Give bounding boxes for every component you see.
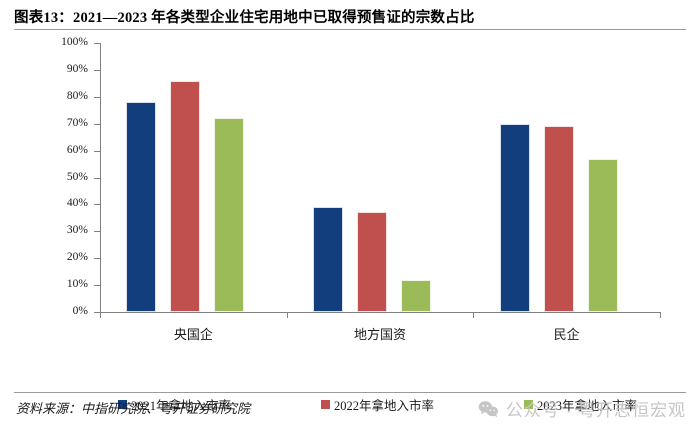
bar-民企-2022年拿地入市率[interactable] — [544, 126, 574, 312]
bar-地方国资-2022年拿地入市率[interactable] — [357, 212, 387, 312]
bar-央国企-2021年拿地入市率[interactable] — [126, 102, 156, 312]
x-axis-category-label: 央国企 — [100, 324, 287, 343]
y-axis-label: 0% — [42, 306, 88, 317]
bar-地方国资-2021年拿地入市率[interactable] — [313, 207, 343, 312]
legend-label: 2022年拿地入市率 — [334, 395, 434, 414]
x-axis-category-label: 民企 — [473, 324, 660, 343]
y-axis-label: 80% — [42, 91, 88, 102]
bar-地方国资-2023年拿地入市率[interactable] — [401, 280, 431, 312]
y-axis-label: 60% — [42, 145, 88, 156]
y-axis-label: 40% — [42, 198, 88, 209]
y-axis-label: 90% — [42, 64, 88, 75]
plot-area — [100, 43, 660, 312]
bar-央国企-2022年拿地入市率[interactable] — [170, 81, 200, 312]
watermark-text: 公众号 · 粤开志恒宏观 — [506, 396, 686, 421]
y-axis-label: 20% — [42, 252, 88, 263]
x-axis-line — [100, 312, 661, 313]
source-note: 资料来源：中指研究院、粤开证券研究院 — [16, 398, 250, 417]
bar-民企-2021年拿地入市率[interactable] — [500, 124, 530, 312]
legend-item-2022年拿地入市率[interactable]: 2022年拿地入市率 — [321, 395, 434, 414]
y-axis-label: 70% — [42, 118, 88, 129]
header-divider — [14, 29, 686, 30]
page-title: 图表13：2021—2023 年各类型企业住宅用地中已取得预售证的宗数占比 — [14, 6, 686, 27]
bar-chart: 100%90%80%70%60%50%40%30%20%10%0% 央国企地方国… — [0, 32, 700, 387]
x-axis-tick — [287, 312, 288, 318]
bar-央国企-2023年拿地入市率[interactable] — [214, 118, 244, 312]
x-axis-tick — [473, 312, 474, 318]
footer-divider — [14, 392, 686, 393]
x-axis-tick — [100, 312, 101, 318]
y-axis-label: 50% — [42, 172, 88, 183]
wechat-icon — [478, 400, 499, 418]
watermark: 公众号 · 粤开志恒宏观 — [478, 396, 686, 421]
y-axis-labels: 100%90%80%70%60%50%40%30%20%10%0% — [40, 32, 88, 332]
y-axis-label: 100% — [42, 37, 88, 48]
x-axis-tick — [660, 312, 661, 318]
x-axis-category-label: 地方国资 — [287, 324, 474, 343]
y-axis-label: 10% — [42, 279, 88, 290]
y-axis-label: 30% — [42, 225, 88, 236]
legend-swatch-icon — [321, 400, 330, 409]
bar-民企-2023年拿地入市率[interactable] — [588, 159, 618, 312]
